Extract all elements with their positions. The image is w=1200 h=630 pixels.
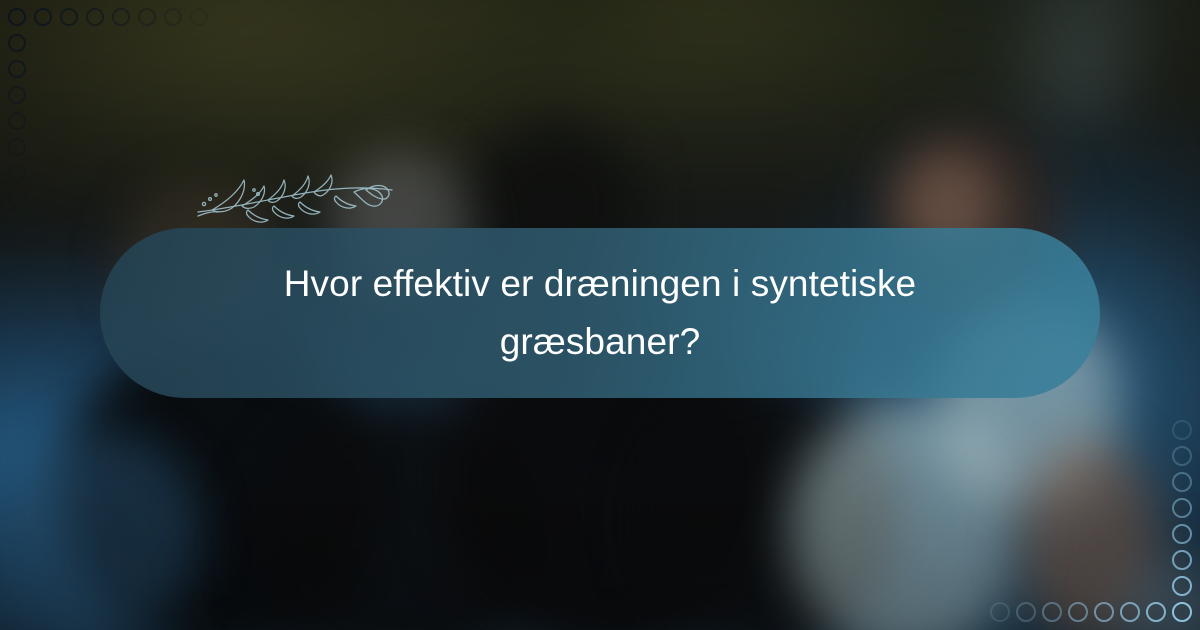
dot-cluster-bottom-right <box>940 370 1200 630</box>
decorative-circle-icon <box>86 8 104 26</box>
decorative-circle-icon <box>164 8 182 26</box>
decorative-circle-icon <box>8 190 26 208</box>
decorative-circle-icon <box>8 60 26 78</box>
decorative-circle-icon <box>8 8 26 26</box>
decorative-circle-icon <box>60 8 78 26</box>
title-pill: Hvor effektiv er dræningen i syntetiske … <box>100 228 1100 398</box>
decorative-circle-icon <box>1172 602 1192 622</box>
decorative-circle-icon <box>1172 576 1192 596</box>
page-title: Hvor effektiv er dræningen i syntetiske … <box>220 255 980 371</box>
decorative-circle-icon <box>1172 498 1192 518</box>
decorative-circle-icon <box>1172 472 1192 492</box>
decorative-circle-icon <box>8 86 26 104</box>
decorative-circle-icon <box>138 8 156 26</box>
decorative-circle-icon <box>1172 524 1192 544</box>
dot-cluster-top-left <box>0 0 260 260</box>
decorative-circle-icon <box>1172 446 1192 466</box>
decorative-circle-icon <box>1120 602 1140 622</box>
decorative-circle-icon <box>112 8 130 26</box>
decorative-circle-icon <box>1042 602 1062 622</box>
decorative-circle-icon <box>8 112 26 130</box>
decorative-circle-icon <box>8 138 26 156</box>
decorative-circle-icon <box>1172 420 1192 440</box>
decorative-circle-icon <box>34 8 52 26</box>
social-share-card: Hvor effektiv er dræningen i syntetiske … <box>0 0 1200 630</box>
decorative-circle-icon <box>990 602 1010 622</box>
decorative-circle-icon <box>1094 602 1114 622</box>
decorative-circle-icon <box>1172 550 1192 570</box>
decorative-circle-icon <box>8 34 26 52</box>
decorative-circle-icon <box>1016 602 1036 622</box>
decorative-circle-icon <box>190 8 208 26</box>
decorative-circle-icon <box>1068 602 1088 622</box>
decorative-circle-icon <box>8 164 26 182</box>
decorative-circle-icon <box>1146 602 1166 622</box>
